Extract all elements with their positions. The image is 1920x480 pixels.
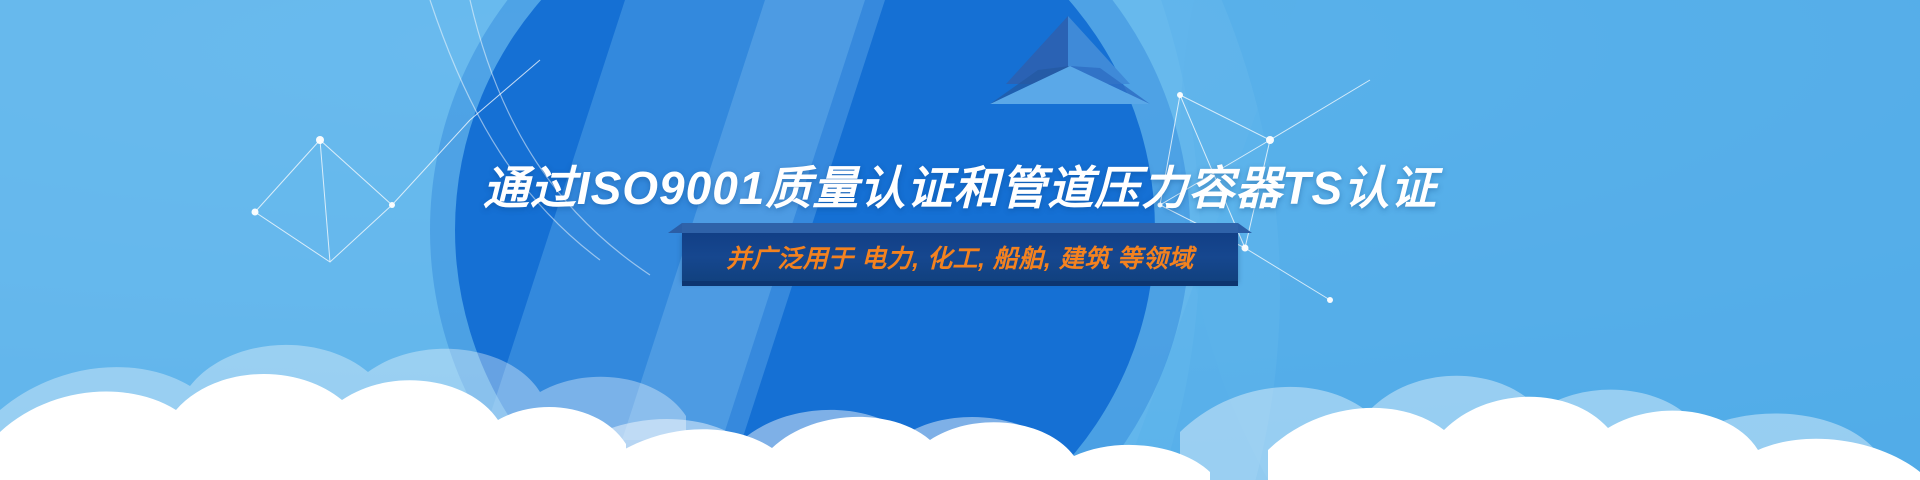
triangle-pyramid-icon <box>980 8 1160 108</box>
promo-banner: 通过ISO9001质量认证和管道压力容器TS认证 并广泛用于 电力, 化工, 船… <box>0 0 1920 480</box>
ribbon-fold-right-icon <box>1238 223 1252 233</box>
ribbon-bottom-edge <box>682 281 1238 286</box>
ribbon-top-edge <box>682 223 1238 233</box>
page-title: 通过ISO9001质量认证和管道压力容器TS认证 <box>0 152 1920 218</box>
ribbon-fold-left-icon <box>668 223 682 233</box>
subtitle-ribbon: 并广泛用于 电力, 化工, 船舶, 建筑 等领域 <box>682 233 1238 281</box>
cloud-icon <box>0 260 1920 480</box>
subtitle-text: 并广泛用于 电力, 化工, 船舶, 建筑 等领域 <box>726 239 1194 275</box>
subtitle-ribbon-wrapper: 并广泛用于 电力, 化工, 船舶, 建筑 等领域 <box>0 233 1920 281</box>
